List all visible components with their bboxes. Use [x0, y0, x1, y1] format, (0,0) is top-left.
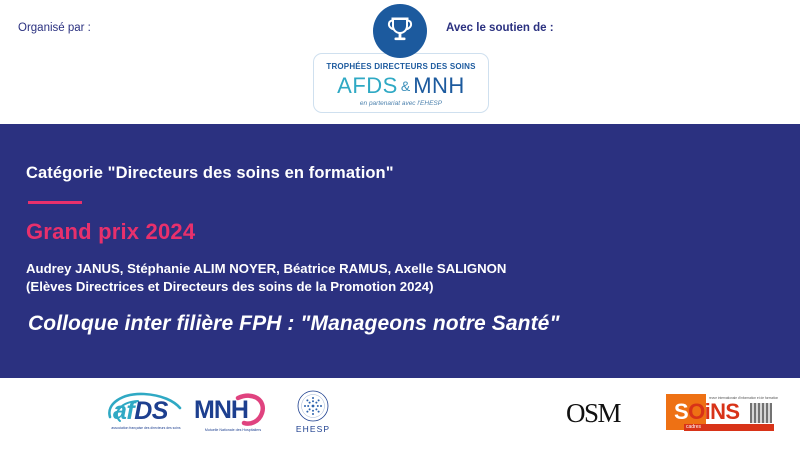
- soins-subword: cadres: [686, 424, 701, 431]
- trophy-icon: [373, 4, 427, 58]
- soins-word-s: S: [674, 399, 688, 424]
- soins-stamp-icon: [750, 403, 772, 423]
- brand-ampersand: &: [398, 78, 413, 94]
- afds-word-af: af: [113, 397, 134, 425]
- ehesp-emblem-icon: [297, 390, 329, 422]
- brand-name-mnh: MNH: [413, 73, 465, 98]
- authors-line-1: Audrey JANUS, Stéphanie ALIM NOYER, Béat…: [26, 260, 506, 278]
- organised-by-label: Organisé par :: [18, 22, 91, 34]
- ehesp-logo: EHESP: [286, 390, 340, 438]
- soins-word-ins: iNS: [705, 399, 740, 424]
- brand-kicker: TROPHÉES DIRECTEURS DES SOINS: [314, 63, 488, 71]
- brand-subtitle: en partenariat avec l'EHESP: [314, 101, 488, 108]
- support-label: Avec le soutien de :: [446, 22, 554, 34]
- mnh-tagline: Mutuelle Nationale des Hospitaliers: [192, 428, 274, 432]
- mnh-wordmark: MNH: [194, 398, 248, 423]
- afds-tagline: association française des directeurs des…: [107, 426, 185, 430]
- header-logo-zone: TROPHÉES DIRECTEURS DES SOINS AFDS&MNH e…: [0, 0, 800, 124]
- ehesp-wordmark: EHESP: [286, 424, 340, 434]
- soins-word-o: O: [688, 399, 705, 424]
- soins-wordmark: SOiNS: [674, 401, 739, 423]
- afds-logo: afDS association française des directeur…: [104, 390, 188, 436]
- project-title: Colloque inter filière FPH : "Manageons …: [28, 312, 560, 336]
- category-title: Catégorie "Directeurs des soins en forma…: [26, 164, 394, 183]
- mnh-logo: MNH Mutuelle Nationale des Hospitaliers: [192, 392, 274, 438]
- authors-line-2: (Elèves Directrices et Directeurs des so…: [26, 278, 506, 296]
- afds-word-ds: DS: [134, 397, 168, 425]
- brand-card: TROPHÉES DIRECTEURS DES SOINS AFDS&MNH e…: [313, 53, 489, 113]
- authors-block: Audrey JANUS, Stéphanie ALIM NOYER, Béat…: [26, 260, 506, 296]
- brand-name-afds: AFDS: [337, 73, 398, 98]
- osm-logo: OSM: [566, 396, 644, 430]
- brand-lockup: TROPHÉES DIRECTEURS DES SOINS AFDS&MNH e…: [305, 4, 495, 116]
- main-banner: Catégorie "Directeurs des soins en forma…: [0, 124, 800, 378]
- soins-logo: revue internationale d'information et de…: [666, 394, 774, 436]
- accent-rule: [28, 201, 82, 204]
- prize-title: Grand prix 2024: [26, 219, 195, 245]
- afds-wordmark: afDS: [113, 399, 168, 424]
- brand-names: AFDS&MNH: [314, 75, 488, 97]
